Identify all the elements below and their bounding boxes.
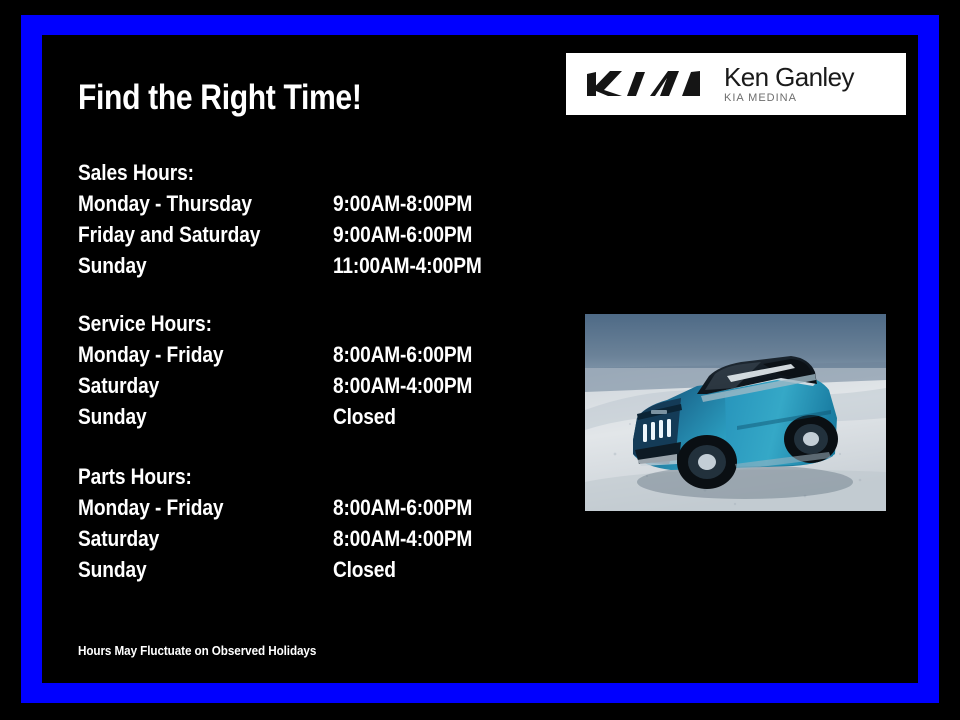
parts-hours-section: Parts Hours: Monday - Friday 8:00AM-6:00…: [78, 462, 548, 585]
day-label: Sunday: [78, 401, 300, 432]
service-hours-section: Service Hours: Monday - Friday 8:00AM-6:…: [78, 309, 548, 432]
time-value: 11:00AM-4:00PM: [333, 250, 482, 281]
kia-ev9-concept-suv-photo: [585, 314, 886, 511]
dealer-name: Ken Ganley: [724, 64, 854, 91]
hours-row: Sunday Closed: [78, 554, 548, 585]
hours-row: Monday - Friday 8:00AM-6:00PM: [78, 339, 548, 370]
hours-row: Sunday 11:00AM-4:00PM: [78, 250, 548, 281]
holiday-disclaimer-note: Hours May Fluctuate on Observed Holidays: [78, 643, 316, 658]
time-value: Closed: [333, 401, 396, 432]
time-value: Closed: [333, 554, 396, 585]
time-value: 8:00AM-6:00PM: [333, 492, 472, 523]
hours-row: Sunday Closed: [78, 401, 548, 432]
dealer-subtitle: KIA MEDINA: [724, 91, 854, 105]
day-label: Sunday: [78, 554, 300, 585]
time-value: 9:00AM-6:00PM: [333, 219, 472, 250]
time-value: 8:00AM-4:00PM: [333, 523, 472, 554]
day-label: Friday and Saturday: [78, 219, 300, 250]
page-title: Find the Right Time!: [78, 78, 362, 118]
time-value: 9:00AM-8:00PM: [333, 188, 472, 219]
day-label: Saturday: [78, 370, 300, 401]
time-value: 8:00AM-6:00PM: [333, 339, 472, 370]
day-label: Sunday: [78, 250, 300, 281]
sales-hours-section: Sales Hours: Monday - Thursday 9:00AM-8:…: [78, 158, 548, 281]
sales-hours-heading: Sales Hours:: [78, 158, 487, 188]
day-label: Saturday: [78, 523, 300, 554]
day-label: Monday - Friday: [78, 339, 300, 370]
service-hours-heading: Service Hours:: [78, 309, 487, 339]
hours-row: Saturday 8:00AM-4:00PM: [78, 370, 548, 401]
day-label: Monday - Friday: [78, 492, 300, 523]
hours-row: Friday and Saturday 9:00AM-6:00PM: [78, 219, 548, 250]
time-value: 8:00AM-4:00PM: [333, 370, 472, 401]
hours-row: Monday - Friday 8:00AM-6:00PM: [78, 492, 548, 523]
hours-row: Saturday 8:00AM-4:00PM: [78, 523, 548, 554]
dealership-hours-slide: Find the Right Time! Sales Hours: Monday…: [0, 0, 960, 720]
hours-row: Monday - Thursday 9:00AM-8:00PM: [78, 188, 548, 219]
dealer-logo-lockup: Ken Ganley KIA MEDINA: [566, 53, 906, 115]
day-label: Monday - Thursday: [78, 188, 300, 219]
kia-logo-icon: [584, 69, 702, 99]
dealer-name-block: Ken Ganley KIA MEDINA: [724, 64, 854, 105]
parts-hours-heading: Parts Hours:: [78, 462, 487, 492]
